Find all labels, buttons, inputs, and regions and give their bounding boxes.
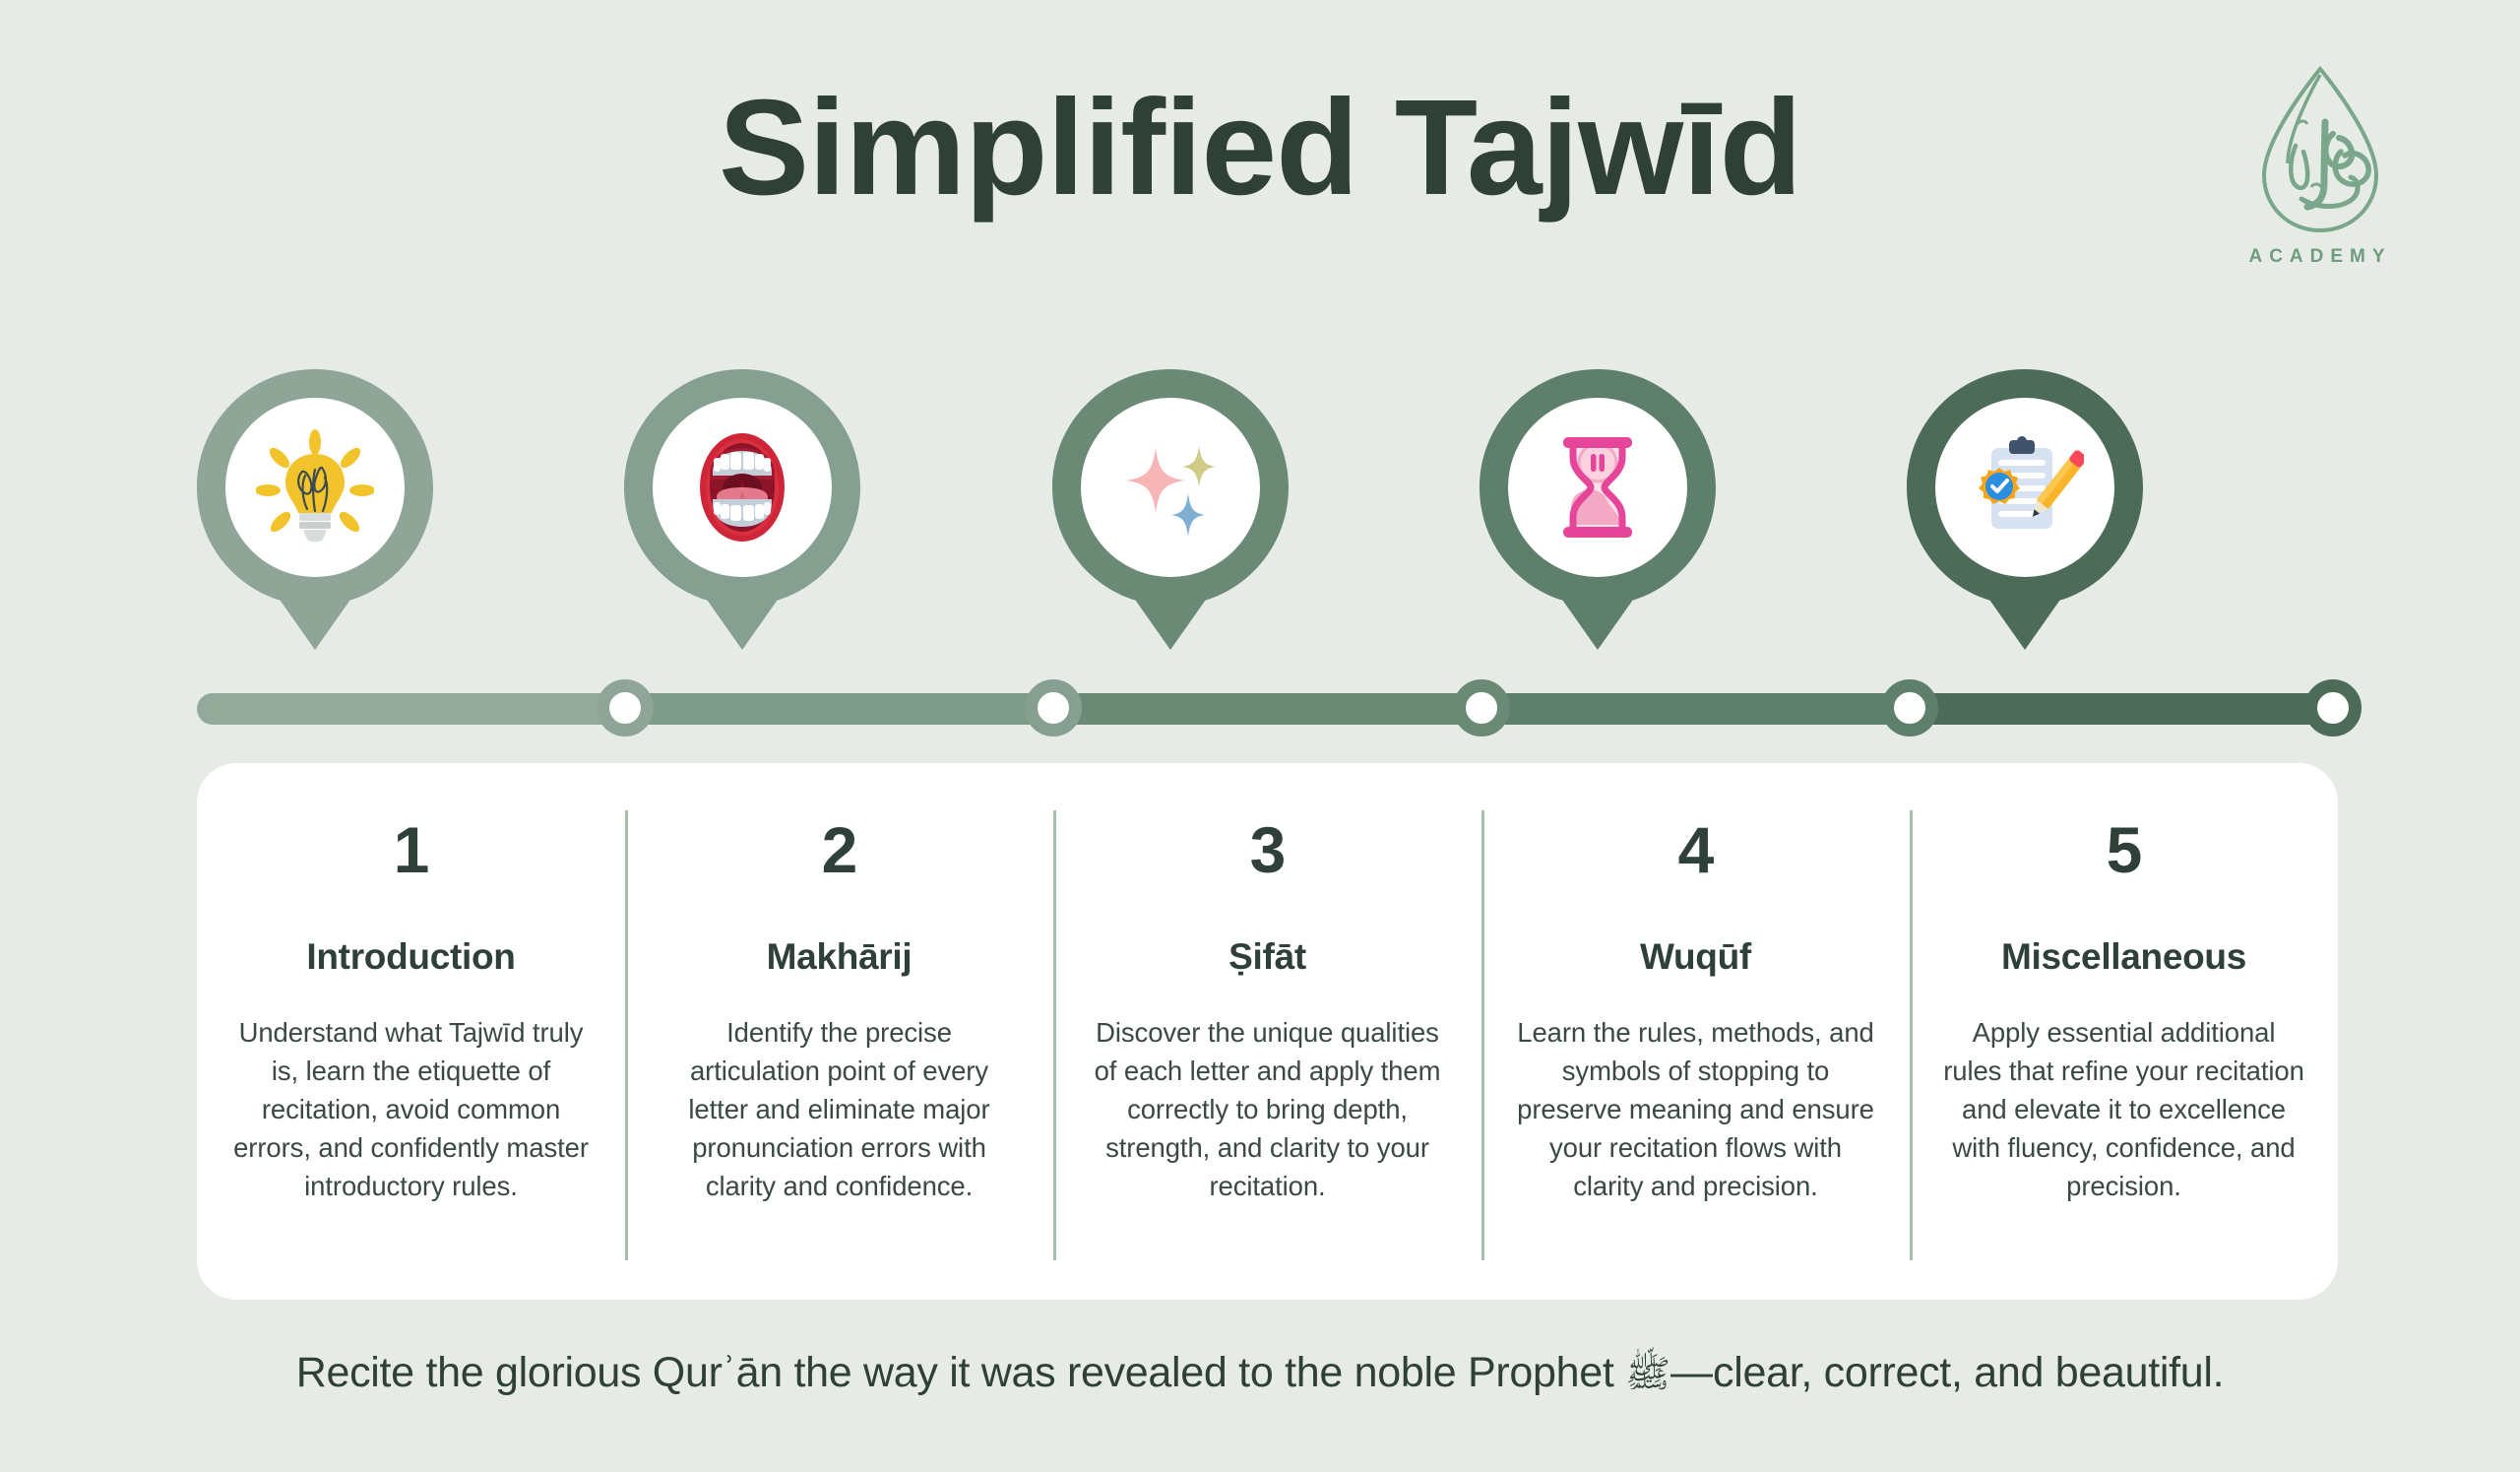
footer-text-before: Recite the glorious Qurʾān the way it wa… <box>296 1349 1625 1396</box>
footer-tagline: Recite the glorious Qurʾān the way it wa… <box>0 1349 2520 1405</box>
timeline-node-3[interactable] <box>1453 679 1510 736</box>
clipboard-check-pencil-icon <box>1966 428 2084 546</box>
timeline-node-5[interactable] <box>2304 679 2362 736</box>
sparkles-icon <box>1111 428 1229 546</box>
timeline-node-2[interactable] <box>1025 679 1082 736</box>
pin-5-circle <box>1935 398 2114 577</box>
timeline-track <box>197 693 2338 725</box>
open-mouth-icon <box>683 428 801 546</box>
footer-text-after: —clear, correct, and beautiful. <box>1670 1349 2224 1396</box>
pin-2-makharij[interactable] <box>624 369 860 650</box>
pin-4-wuquf[interactable] <box>1480 369 1716 650</box>
timeline-node-4[interactable] <box>1881 679 1938 736</box>
stage-number: 4 <box>1515 817 1876 882</box>
stage-number: 2 <box>659 817 1020 882</box>
stage-number: 1 <box>230 817 592 882</box>
stage-title: Ṣifāt <box>1087 937 1448 978</box>
pin-1-circle <box>225 398 405 577</box>
stage-title: Makhārij <box>659 937 1020 978</box>
stage-description: Identify the precise articulation point … <box>659 1013 1020 1205</box>
academy-logo: ACADEMY <box>2227 61 2414 288</box>
stage-column-1: 1 Introduction Understand what Tajwīd tr… <box>197 763 625 1300</box>
stage-title: Miscellaneous <box>1943 937 2304 978</box>
pin-1-introduction[interactable] <box>197 369 433 650</box>
stage-number: 5 <box>1943 817 2304 882</box>
stage-description: Discover the unique qualities of each le… <box>1087 1013 1448 1205</box>
pin-4-circle <box>1508 398 1687 577</box>
pin-3-sifat[interactable] <box>1052 369 1289 650</box>
stages-card: 1 Introduction Understand what Tajwīd tr… <box>197 763 2338 1300</box>
timeline <box>197 679 2338 738</box>
timeline-segment-5 <box>1910 693 2338 725</box>
stage-title: Introduction <box>230 937 592 978</box>
stage-column-5: 5 Miscellaneous Apply essential addition… <box>1910 763 2338 1300</box>
stage-column-4: 4 Wuqūf Learn the rules, methods, and sy… <box>1481 763 1910 1300</box>
timeline-node-1[interactable] <box>597 679 654 736</box>
timeline-segment-1 <box>197 693 625 725</box>
hourglass-pause-icon <box>1539 428 1657 546</box>
stage-number: 3 <box>1087 817 1448 882</box>
page-title: Simplified Tajwīd <box>0 77 2520 220</box>
logo-wordmark: ACADEMY <box>2227 246 2414 268</box>
timeline-segment-2 <box>625 693 1053 725</box>
timeline-segment-3 <box>1053 693 1481 725</box>
pin-5-miscellaneous[interactable] <box>1907 369 2143 650</box>
stage-description: Learn the rules, methods, and symbols of… <box>1515 1013 1876 1205</box>
stage-column-3: 3 Ṣifāt Discover the unique qualities of… <box>1053 763 1481 1300</box>
stage-title: Wuqūf <box>1515 937 1876 978</box>
stage-description: Apply essential additional rules that re… <box>1943 1013 2304 1205</box>
timeline-segment-4 <box>1481 693 1910 725</box>
infographic-page: Simplified Tajwīd ACADEMY <box>0 0 2520 1472</box>
sallallahu-alayhi-wasallam-glyph: ﷺ <box>1625 1354 1670 1395</box>
pin-2-circle <box>653 398 832 577</box>
pin-row <box>197 369 2338 655</box>
stage-description: Understand what Tajwīd truly is, learn t… <box>230 1013 592 1205</box>
stage-column-2: 2 Makhārij Identify the precise articula… <box>625 763 1053 1300</box>
header: Simplified Tajwīd ACADEMY <box>0 0 2520 325</box>
pin-3-circle <box>1081 398 1260 577</box>
lightbulb-icon <box>256 428 374 546</box>
droplet-calligraphy-logo-icon <box>2227 61 2414 248</box>
